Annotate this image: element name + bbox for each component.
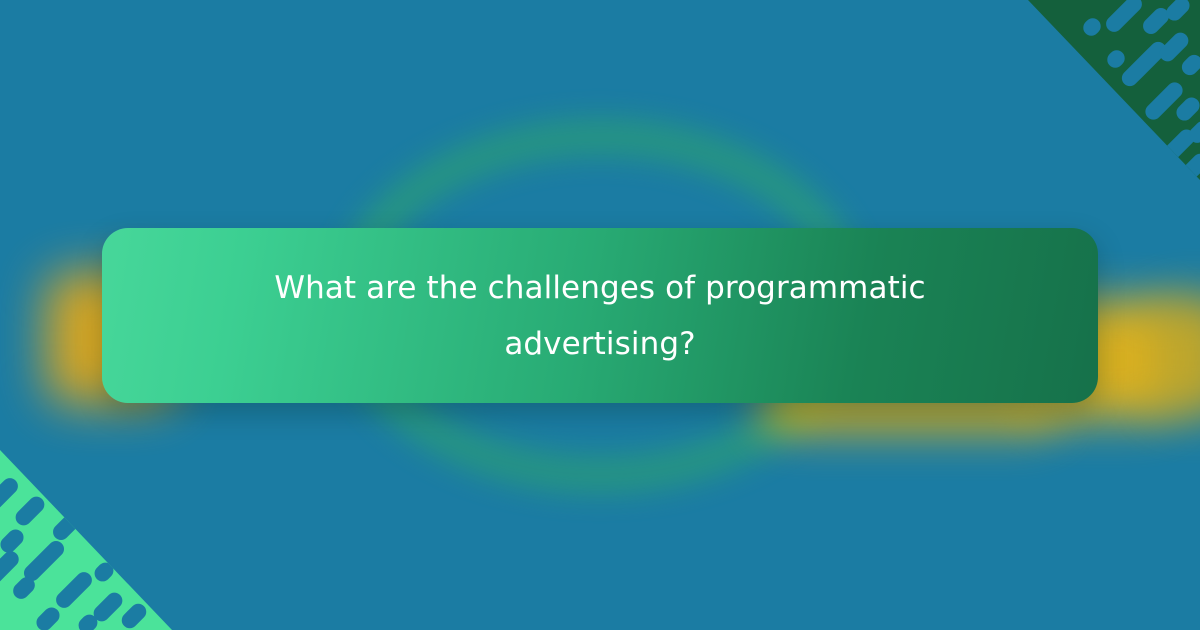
- question-card: What are the challenges of programmatic …: [102, 228, 1098, 403]
- question-title: What are the challenges of programmatic …: [250, 260, 950, 372]
- yellow-glow-far-right: [1150, 296, 1200, 416]
- social-card-canvas: What are the challenges of programmatic …: [0, 0, 1200, 630]
